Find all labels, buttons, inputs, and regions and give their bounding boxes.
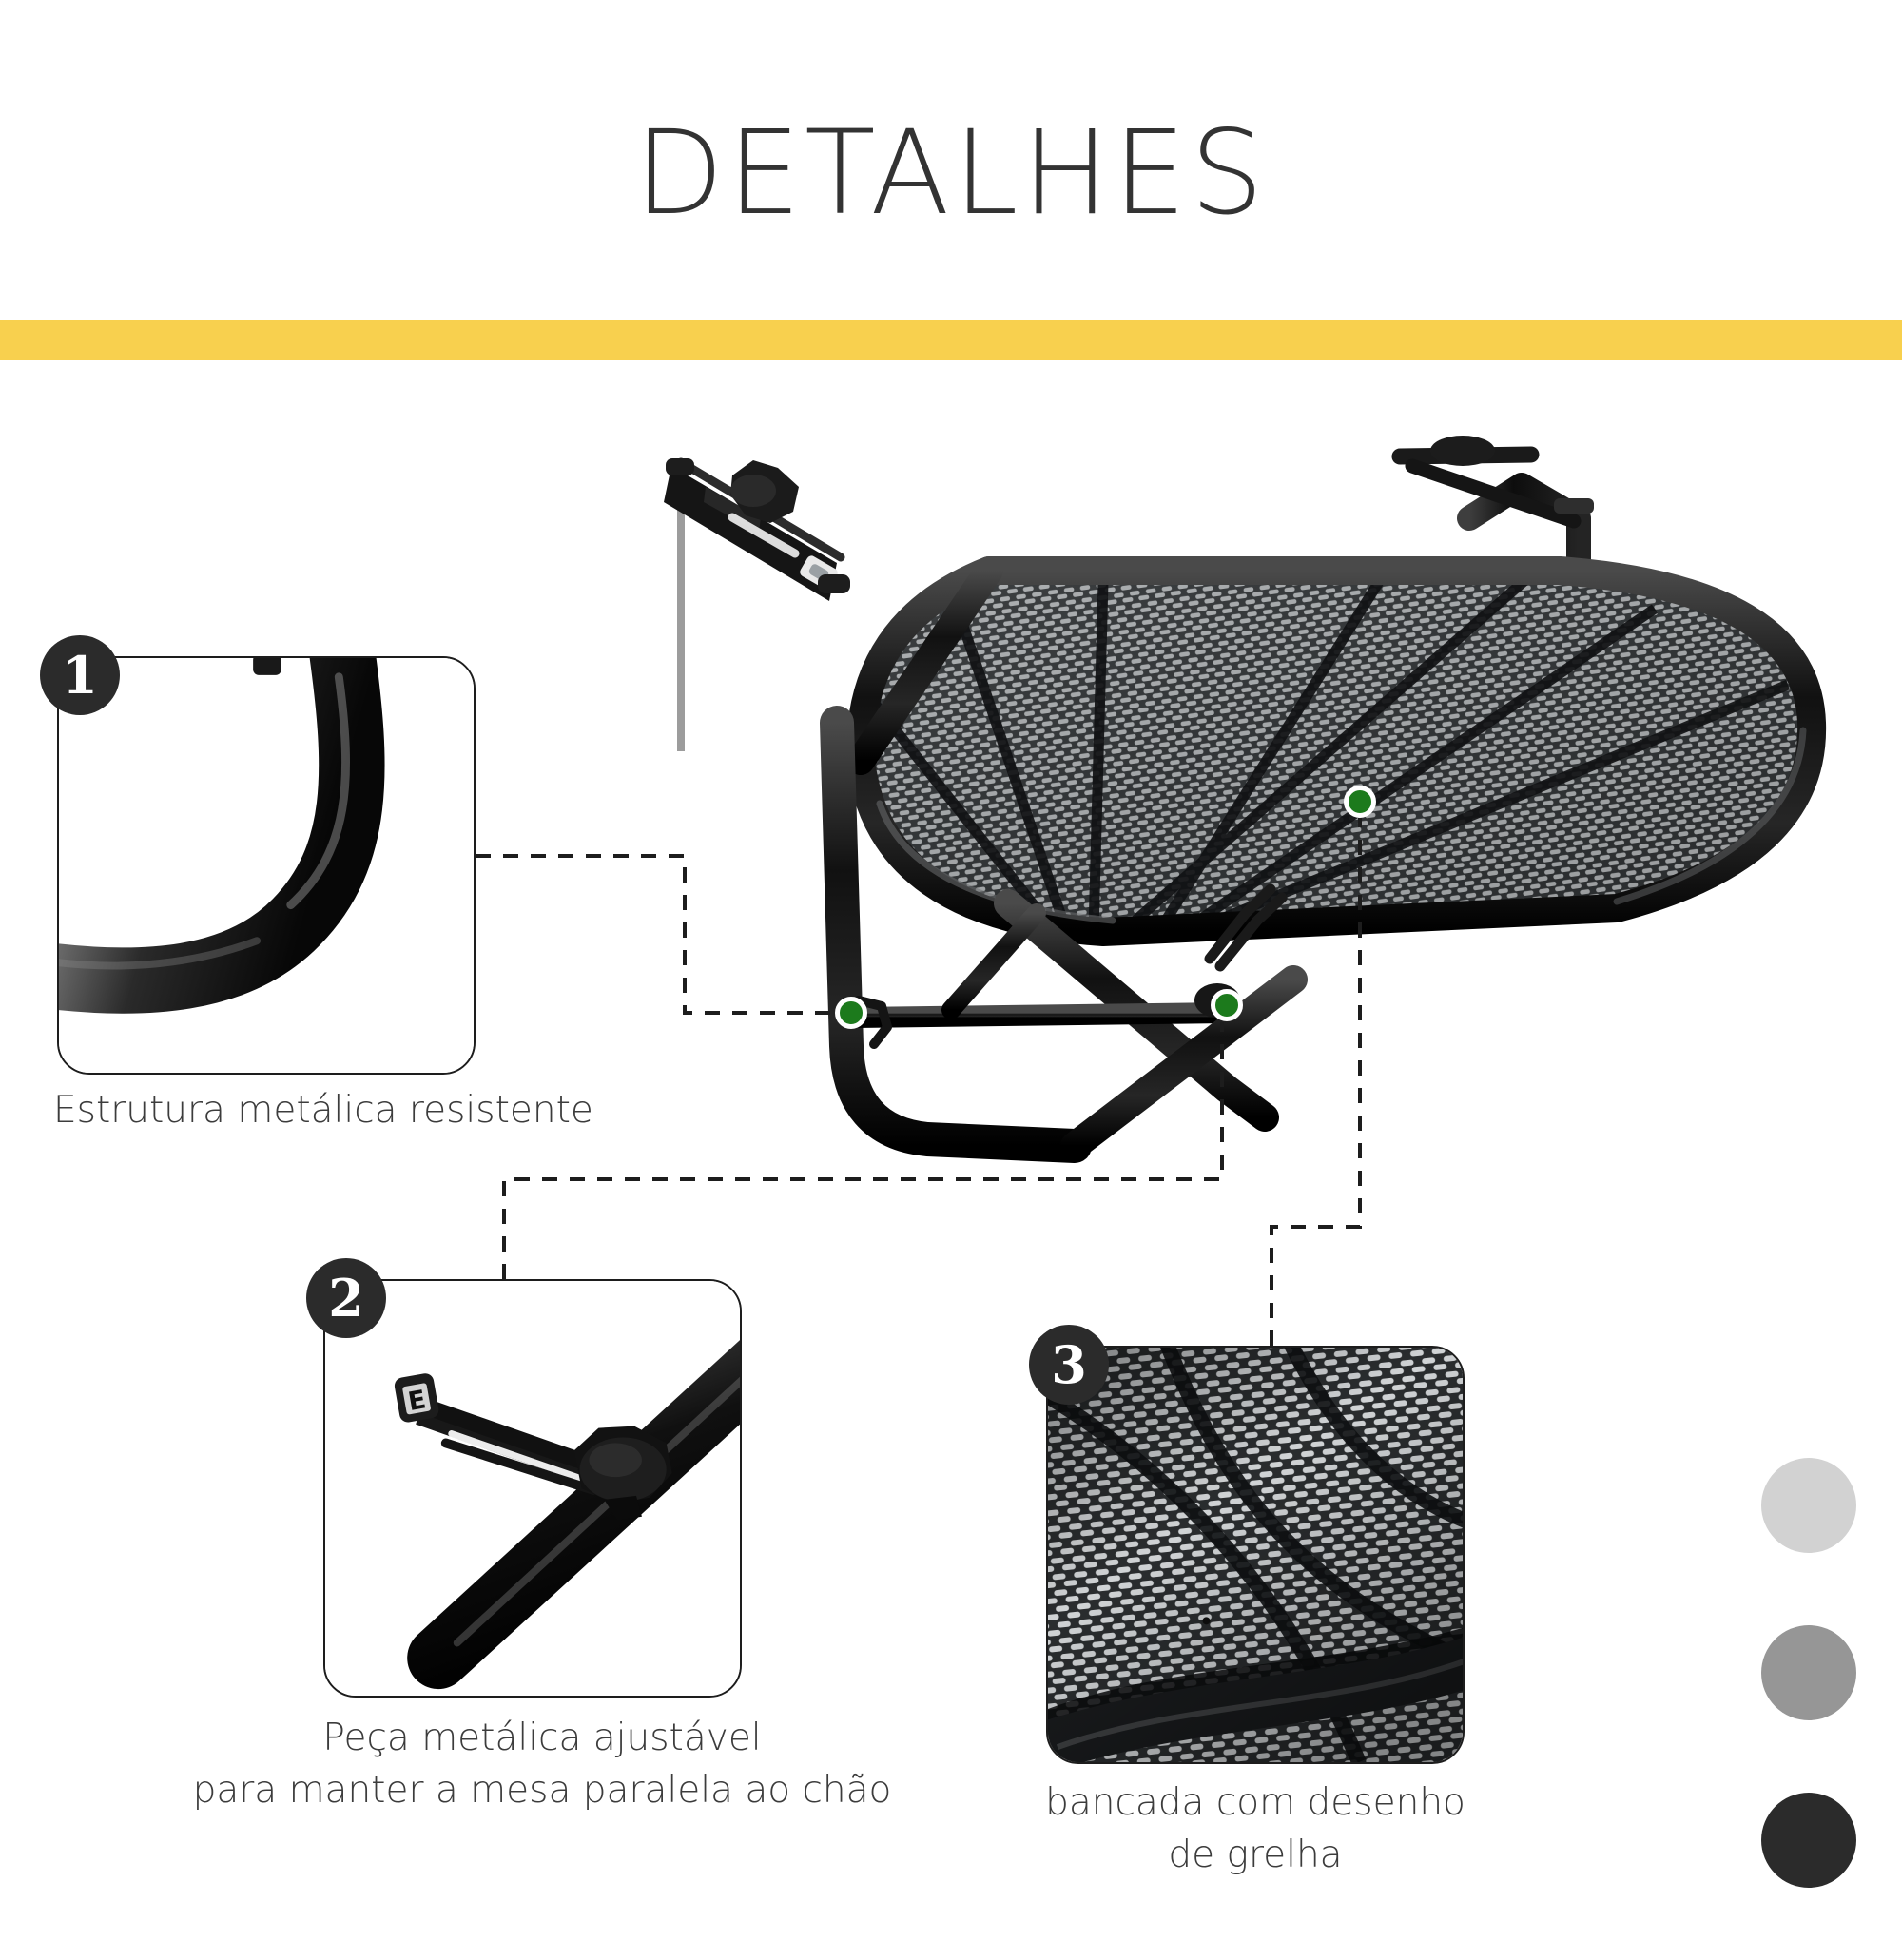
connector-2 xyxy=(504,1022,1222,1279)
callout-1-badge: 1 xyxy=(40,635,120,715)
marker-bracket xyxy=(1211,989,1243,1021)
callout-3-badge: 3 xyxy=(1029,1325,1109,1405)
connector-3 xyxy=(1271,818,1360,1346)
connector-1 xyxy=(475,856,837,1013)
marker-tabletop xyxy=(1344,786,1376,818)
marker-frame-left xyxy=(835,997,867,1029)
connector-lines xyxy=(0,0,1902,1902)
callout-2-badge: 2 xyxy=(306,1258,386,1338)
